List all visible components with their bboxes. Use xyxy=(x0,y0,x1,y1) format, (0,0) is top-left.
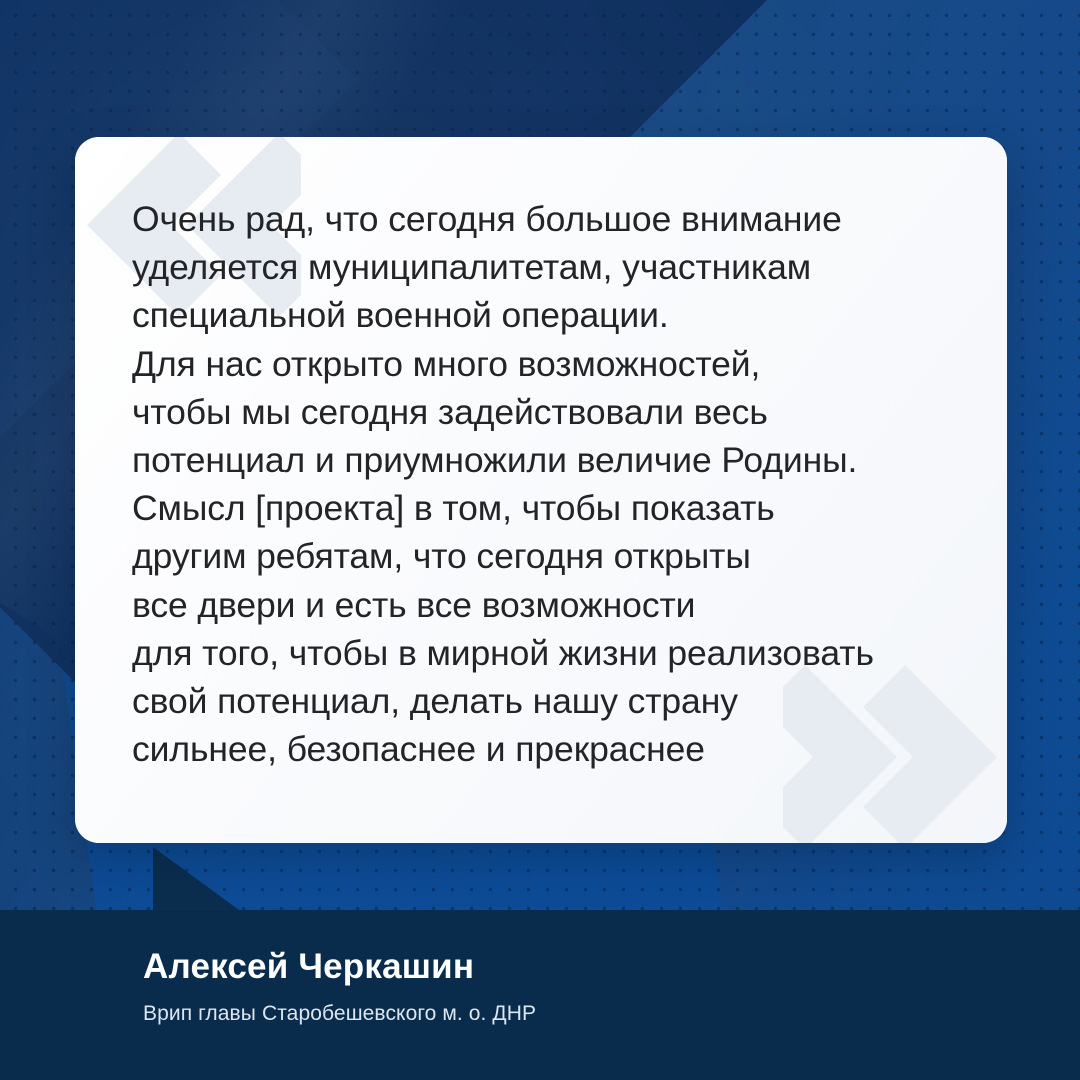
quote-text: Очень рад, что сегодня большое внимание … xyxy=(132,195,979,773)
attribution-footer: Алексей Черкашин Врип главы Старобешевск… xyxy=(0,910,1080,1080)
speaker-name: Алексей Черкашин xyxy=(143,947,474,987)
speaker-role: Врип главы Старобешевского м. о. ДНР xyxy=(143,1002,536,1026)
quote-poster: Очень рад, что сегодня большое внимание … xyxy=(0,0,1080,1080)
quote-card: Очень рад, что сегодня большое внимание … xyxy=(75,137,1007,843)
